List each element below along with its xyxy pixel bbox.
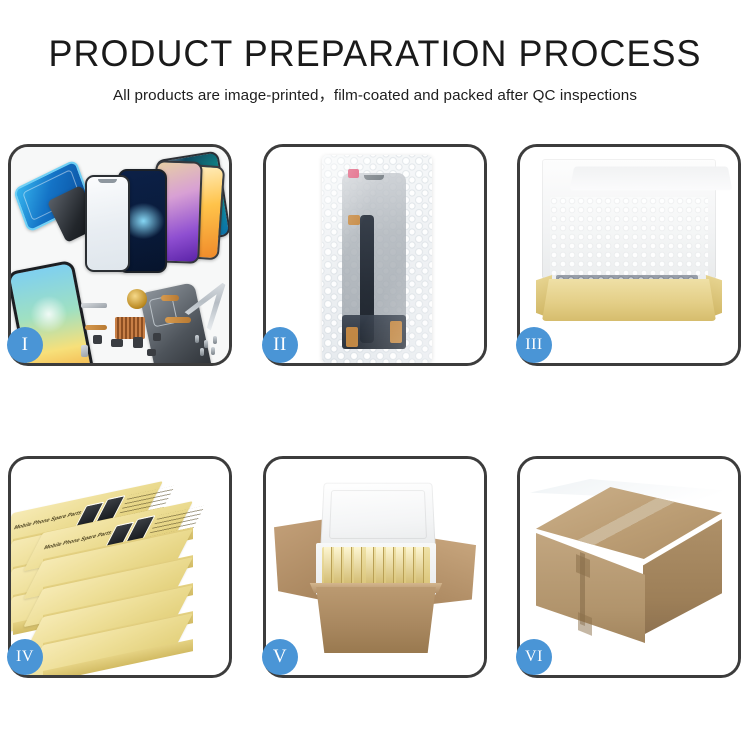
step-badge-6: VI xyxy=(516,639,552,675)
part-speaker-module xyxy=(133,337,143,348)
steps-grid: I II xyxy=(0,0,750,750)
screen-notch xyxy=(364,175,384,180)
foam-lid-top-face xyxy=(570,166,733,190)
connector-tab-b xyxy=(346,327,358,347)
stacked-spare-parts-boxes-photo: Mobile Phone Spare Parts xyxy=(11,459,229,675)
part-connector-grid xyxy=(115,317,145,339)
bubble-wrapped-screen-photo xyxy=(266,147,484,363)
part-vibration-motor xyxy=(127,289,147,309)
box-stack: Mobile Phone Spare Parts xyxy=(11,475,229,665)
step-panel-3 xyxy=(517,144,741,366)
step-panel-6 xyxy=(517,456,741,678)
step-badge-1: I xyxy=(7,327,43,363)
connector-tab-c xyxy=(390,321,402,343)
step-badge-5: V xyxy=(262,639,298,675)
step-badge-2: II xyxy=(262,327,298,363)
part-flex-cable-b xyxy=(85,325,107,330)
spare-parts-cluster xyxy=(81,287,211,366)
connector-tab-a xyxy=(348,215,360,225)
part-ic-chip-c xyxy=(153,333,161,341)
step-panel-4: Mobile Phone Spare Parts xyxy=(8,456,232,678)
box-tray-front-wall xyxy=(542,279,716,321)
box-stack-item xyxy=(43,645,193,665)
part-ic-chip-a xyxy=(93,335,102,344)
part-flex-cable-c xyxy=(165,317,191,323)
step-panel-2 xyxy=(263,144,487,366)
carton-front-face xyxy=(308,587,444,653)
step-panel-1 xyxy=(8,144,232,366)
product-preparation-infographic: PRODUCT PREPARATION PROCESS All products… xyxy=(0,0,750,750)
phones-and-spare-parts-photo xyxy=(11,147,229,363)
part-earpiece-mesh xyxy=(81,303,107,308)
step-badge-3: III xyxy=(516,327,552,363)
step-badge-4: IV xyxy=(7,639,43,675)
yellow-boxes-inside xyxy=(322,547,430,589)
part-sim-tray xyxy=(81,345,88,357)
part-ic-chip-d xyxy=(147,349,156,356)
carton-with-foam-insert-photo xyxy=(266,459,484,675)
foam-box-lid xyxy=(320,483,435,550)
part-flex-cable-a xyxy=(161,295,179,301)
pink-qc-sticker xyxy=(348,169,359,178)
sealed-shipping-carton-photo xyxy=(520,459,738,675)
step-panel-5 xyxy=(263,456,487,678)
open-yellow-box-with-foam-photo xyxy=(520,147,738,363)
front-glass-cover xyxy=(85,175,130,272)
part-ic-chip-b xyxy=(111,339,123,347)
white-foam-sheet xyxy=(550,197,708,281)
screws-group xyxy=(195,335,223,357)
bubble-wrap-bag xyxy=(322,155,432,363)
